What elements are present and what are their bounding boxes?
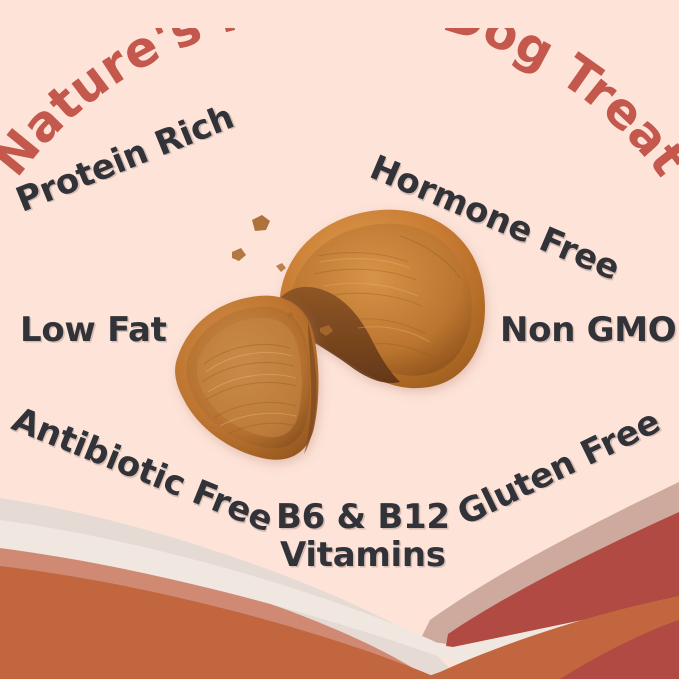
ribbon-terracotta-tail xyxy=(420,596,679,679)
product-image xyxy=(168,196,498,476)
ribbon-terracotta-main xyxy=(0,566,440,679)
ribbon-brick-right-core xyxy=(446,512,679,679)
feature-label-non-gmo: Non GMO xyxy=(500,312,676,348)
feature-label-vitamins-line2: Vitamins xyxy=(276,536,450,574)
treat-piece-bottom xyxy=(175,296,318,460)
feature-label-vitamins: B6 & B12 Vitamins xyxy=(276,498,450,574)
feature-label-low-fat: Low Fat xyxy=(20,312,167,348)
feature-label-vitamins-line1: B6 & B12 xyxy=(276,498,450,536)
product-feature-poster: Nature's Perfect Dog Treat Nature's Perf… xyxy=(0,0,679,679)
ribbon-brick-tail xyxy=(560,620,679,679)
